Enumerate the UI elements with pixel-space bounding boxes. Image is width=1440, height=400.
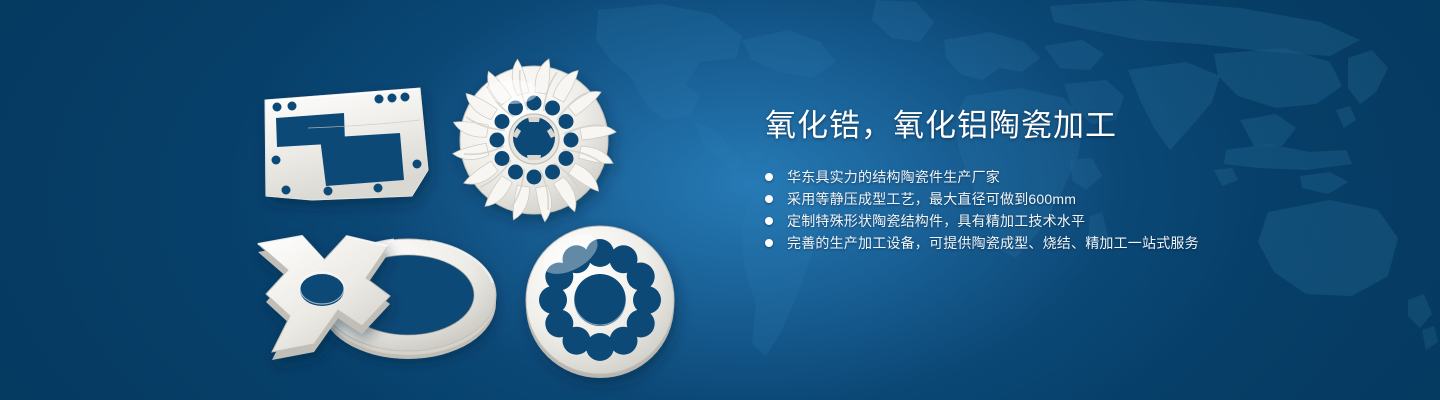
feature-text: 华东具实力的结构陶瓷件生产厂家 (787, 169, 1000, 185)
page-title: 氧化锆，氧化铝陶瓷加工 (765, 104, 1385, 148)
list-item: 定制特殊形状陶瓷结构件，具有精加工技术水平 (765, 210, 1385, 232)
bullet-dot-icon (765, 195, 773, 203)
bullet-dot-icon (765, 239, 773, 247)
list-item: 采用等静压成型工艺，最大直径可做到600mm (765, 188, 1385, 210)
feature-text: 采用等静压成型工艺，最大直径可做到600mm (787, 191, 1076, 207)
ceramic-flat-plate (265, 88, 428, 200)
hero-banner: 氧化锆，氧化铝陶瓷加工 华东具实力的结构陶瓷件生产厂家 采用等静压成型工艺，最大… (0, 0, 1440, 400)
ceramic-products-collage (0, 0, 740, 400)
list-item: 华东具实力的结构陶瓷件生产厂家 (765, 166, 1385, 188)
bullet-dot-icon (765, 173, 773, 181)
feature-text: 定制特殊形状陶瓷结构件，具有精加工技术水平 (787, 213, 1085, 229)
feature-list: 华东具实力的结构陶瓷件生产厂家 采用等静压成型工艺，最大直径可做到600mm 定… (765, 166, 1385, 254)
ceramic-impeller (451, 57, 616, 222)
ceramic-perforated-disc (526, 226, 674, 378)
bullet-dot-icon (765, 217, 773, 225)
feature-text: 完善的生产加工设备，可提供陶瓷成型、烧结、精加工一站式服务 (787, 235, 1199, 251)
list-item: 完善的生产加工设备，可提供陶瓷成型、烧结、精加工一站式服务 (765, 232, 1385, 254)
banner-text-column: 氧化锆，氧化铝陶瓷加工 华东具实力的结构陶瓷件生产厂家 采用等静压成型工艺，最大… (765, 104, 1385, 254)
